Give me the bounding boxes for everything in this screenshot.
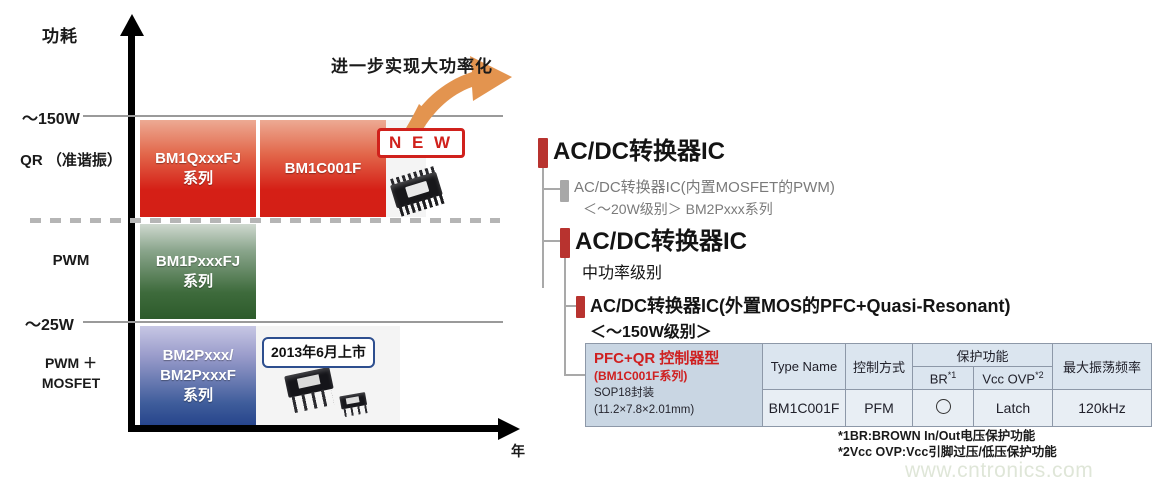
lead-sub: (BM1C001F系列) — [594, 368, 754, 384]
hierarchy-node-pfcqr: AC/DC转换器IC(外置MOS的PFC+Quasi-Resonant) — [576, 295, 1011, 318]
node-marker-red — [538, 138, 548, 168]
category-qr-sub: （准谐振） — [47, 152, 122, 169]
x-axis-label: 年 — [511, 441, 525, 461]
lead-package-2: (11.2×7.8×2.01mm) — [594, 403, 754, 418]
footnote-1: *1BR:BROWN In/Out电压保护功能 — [838, 428, 1057, 444]
category-pwmmos-l3: MOSFET — [42, 375, 100, 391]
y-tick-150w: ～150W — [22, 105, 80, 129]
hierarchy-node-mid-label: AC/DC转换器IC — [575, 228, 747, 256]
node-marker-red-3 — [576, 296, 585, 318]
col-vccovp-sup: *2 — [1035, 370, 1044, 380]
hierarchy-node-pfcqr-label: AC/DC转换器IC(外置MOS的PFC+Quasi-Resonant) — [590, 295, 1011, 317]
cell-type-name: BM1C001F — [763, 390, 846, 427]
node-marker-gray — [560, 180, 569, 202]
category-label-qr: QR （准谐振） — [18, 150, 124, 171]
col-type-name: Type Name — [763, 344, 846, 390]
bar-bm1c001f-l1: BM1C001F — [285, 160, 362, 177]
bar-bm2pxxx-l2: BM2PxxxF — [160, 366, 236, 386]
bar-bm2pxxx-l1: BM2Pxxx/ — [163, 346, 234, 366]
footnote-2: *2Vcc OVP:Vcc引脚过压/低压保护功能 — [838, 444, 1057, 460]
y-axis-line — [128, 30, 135, 432]
col-vcc-ovp: Vcc OVP*2 — [974, 367, 1053, 390]
footnotes: *1BR:BROWN In/Out电压保护功能 *2Vcc OVP:Vcc引脚过… — [838, 428, 1057, 460]
qr-pwm-divider — [30, 218, 500, 223]
tree-trunk-line-2 — [564, 258, 566, 376]
col-br: BR*1 — [913, 367, 974, 390]
spec-table: PFC+QR 控制器型 (BM1C001F系列) SOP18封装 (11.2×7… — [585, 343, 1152, 427]
hierarchy-node-mid: AC/DC转换器IC — [560, 228, 747, 258]
hierarchy-node-root: AC/DC转换器IC — [538, 138, 725, 168]
cell-vcc-ovp: Latch — [974, 390, 1053, 427]
tree-branch-4 — [564, 374, 586, 376]
bar-bm1c001f: BM1C001F — [260, 120, 386, 217]
col-protection-group: 保护功能 — [913, 344, 1053, 367]
y-tick-25w: ～25W — [25, 311, 74, 335]
hierarchy-node-pwm-sub: ＜～20W级别＞ BM2Pxxx系列 — [583, 199, 773, 219]
power-roadmap-chart: 功耗 年 ～150W ～25W QR （准谐振） PWM PWM ＋ MOSFE… — [0, 0, 560, 483]
cell-frequency: 120kHz — [1053, 390, 1152, 427]
bar-bm1qxxxfj-l1: BM1QxxxFJ — [155, 149, 241, 169]
circle-icon — [936, 399, 951, 414]
cell-br — [913, 390, 974, 427]
bar-bm1pxxxfj-l1: BM1PxxxFJ — [156, 252, 240, 272]
table-header-row-1: PFC+QR 控制器型 (BM1C001F系列) SOP18封装 (11.2×7… — [586, 344, 1152, 367]
col-vccovp-label: Vcc OVP — [982, 371, 1035, 386]
tree-branch-2 — [542, 240, 562, 242]
x-axis-arrow-icon — [498, 418, 520, 440]
bar-bm1qxxxfj-l2: 系列 — [183, 169, 213, 189]
table-lead-cell: PFC+QR 控制器型 (BM1C001F系列) SOP18封装 (11.2×7… — [586, 344, 763, 427]
lead-title: PFC+QR 控制器型 — [594, 349, 754, 368]
bar-bm1pxxxfj: BM1PxxxFJ 系列 — [140, 224, 256, 319]
lead-package-1: SOP18封装 — [594, 386, 754, 401]
watermark: www.cntronics.com — [905, 459, 1093, 483]
col-control-method: 控制方式 — [846, 344, 913, 390]
col-br-label: BR — [930, 371, 948, 386]
hierarchy-node-mid-sub: 中功率级别 — [582, 259, 662, 283]
bar-bm1pxxxfj-l2: 系列 — [183, 272, 213, 292]
hierarchy-node-pfcqr-sub: ＜～150W级别＞ — [590, 318, 712, 342]
hierarchy-node-root-label: AC/DC转换器IC — [553, 138, 725, 166]
gridline-25w — [83, 321, 503, 323]
hierarchy-node-pwm-label: AC/DC转换器IC(内置MOSFET的PWM) — [574, 178, 835, 198]
launch-date-callout: 2013年6月上市 — [262, 337, 375, 368]
y-axis-label: 功耗 — [42, 22, 78, 47]
new-badge: N E W — [377, 128, 465, 158]
category-qr-main: QR — [20, 152, 43, 169]
tree-branch-1 — [542, 188, 562, 190]
col-max-frequency: 最大振荡频率 — [1053, 344, 1152, 390]
category-pwmmos-l1: PWM — [45, 355, 79, 371]
cell-control: PFM — [846, 390, 913, 427]
node-marker-red-2 — [560, 228, 570, 258]
category-label-pwm: PWM — [18, 252, 124, 269]
growth-annotation-text: 进一步实现大功率化 — [331, 52, 493, 77]
bar-bm1qxxxfj: BM1QxxxFJ 系列 — [140, 120, 256, 217]
gridline-150w — [83, 115, 503, 117]
category-pwmmos-l2: ＋ — [83, 355, 97, 371]
tree-trunk-line — [542, 168, 544, 288]
product-hierarchy-panel: AC/DC转换器IC AC/DC转换器IC(内置MOSFET的PWM) ＜～20… — [528, 0, 1156, 483]
col-br-sup: *1 — [948, 370, 957, 380]
bar-bm2pxxx: BM2Pxxx/ BM2PxxxF 系列 — [140, 326, 256, 425]
bar-bm2pxxx-l3: 系列 — [183, 386, 213, 406]
category-label-pwm-mosfet: PWM ＋ MOSFET — [18, 353, 124, 393]
x-axis-line — [128, 425, 503, 432]
